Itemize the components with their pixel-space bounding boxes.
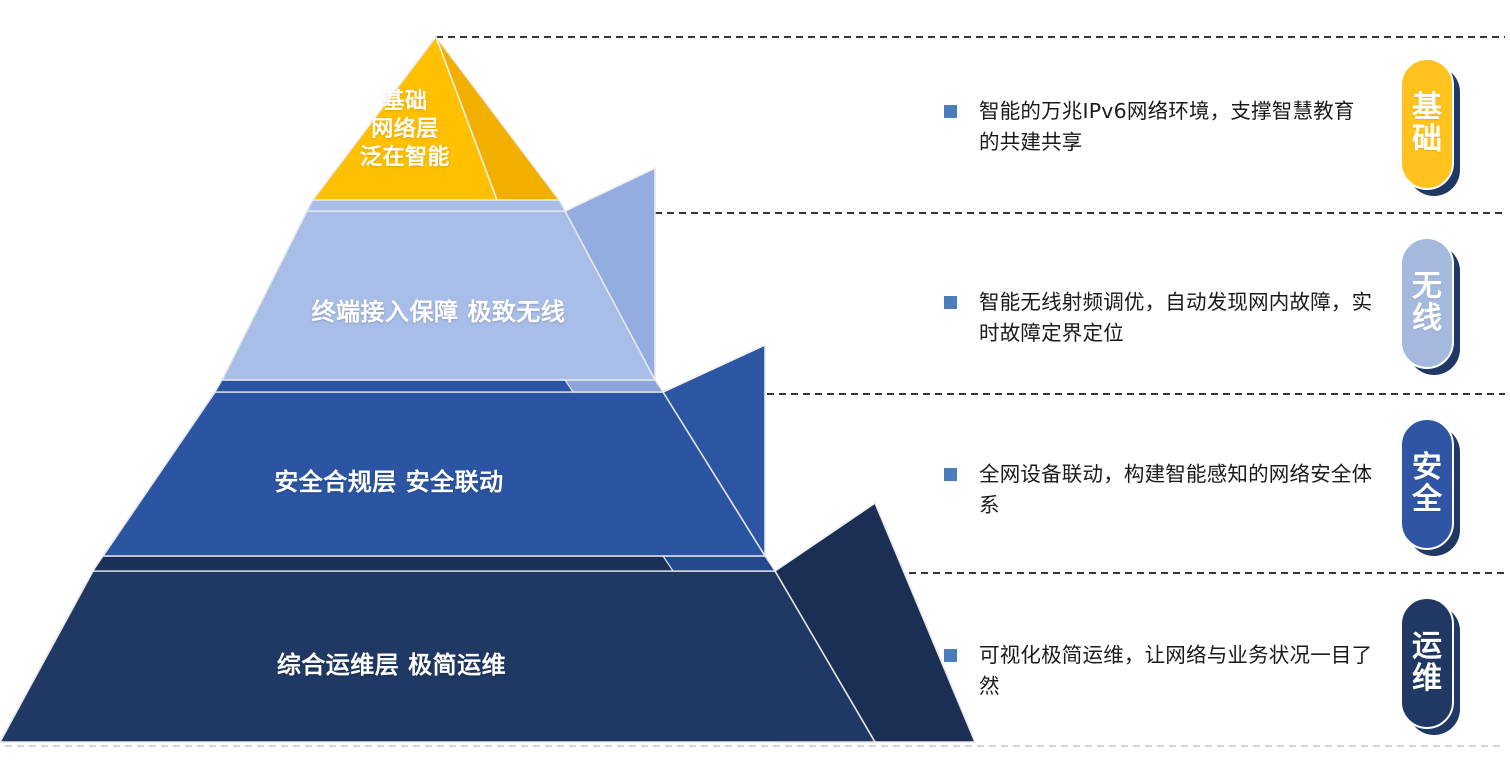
bullet-square-icon (944, 105, 957, 118)
badge-operations-char-2: 维 (1412, 663, 1442, 695)
badge-operations[interactable]: 运 维 (1400, 597, 1454, 729)
bullet-row-security[interactable]: 全网设备联动，构建智能感知的网络安全体系 (944, 459, 1374, 521)
badge-wireless-char-2: 线 (1412, 303, 1442, 335)
bullet-text-wireless: 智能无线射频调优，自动发现网内故障，实时故障定界定位 (979, 287, 1374, 349)
badge-foundation-char-2: 础 (1412, 124, 1442, 156)
bullet-row-operations[interactable]: 可视化极简运维，让网络与业务状况一目了然 (944, 640, 1374, 702)
badge-operations-char-1: 运 (1412, 631, 1442, 663)
layer-operations-front-face (0, 571, 875, 742)
badge-security[interactable]: 安 全 (1400, 418, 1454, 550)
bullet-square-icon (944, 296, 957, 309)
bullet-text-security: 全网设备联动，构建智能感知的网络安全体系 (979, 459, 1374, 521)
badge-wireless-char-1: 无 (1412, 271, 1442, 303)
badge-foundation[interactable]: 基 础 (1400, 58, 1454, 190)
layer-wireless-top-strip (307, 200, 565, 211)
layer-security-side-face-lower (663, 556, 775, 571)
layer-security-front-face (103, 392, 765, 556)
badge-security-char-2: 全 (1412, 484, 1442, 516)
bullet-row-foundation[interactable]: 智能的万兆IPv6网络环境，支撑智慧教育的共建共享 (944, 96, 1374, 158)
badge-security-char-1: 安 (1412, 452, 1442, 484)
badge-wireless[interactable]: 无 线 (1400, 237, 1454, 369)
pyramid-layer-foundation[interactable] (313, 37, 559, 200)
badge-foundation-char-1: 基 (1412, 92, 1442, 124)
bullet-square-icon (944, 649, 957, 662)
layer-wireless-side-face-lower (565, 380, 663, 392)
bullet-square-icon (944, 468, 957, 481)
bullet-text-operations: 可视化极简运维，让网络与业务状况一目了然 (979, 640, 1374, 702)
bullet-row-wireless[interactable]: 智能无线射频调优，自动发现网内故障，实时故障定界定位 (944, 287, 1374, 349)
pyramid-layer-wireless[interactable] (222, 168, 663, 392)
bullet-text-foundation: 智能的万兆IPv6网络环境，支撑智慧教育的共建共享 (979, 96, 1374, 158)
diagram-canvas: 基础 网络层 泛在智能 终端接入保障 极致无线 安全合规层 安全联动 综合运维层… (0, 0, 1510, 779)
